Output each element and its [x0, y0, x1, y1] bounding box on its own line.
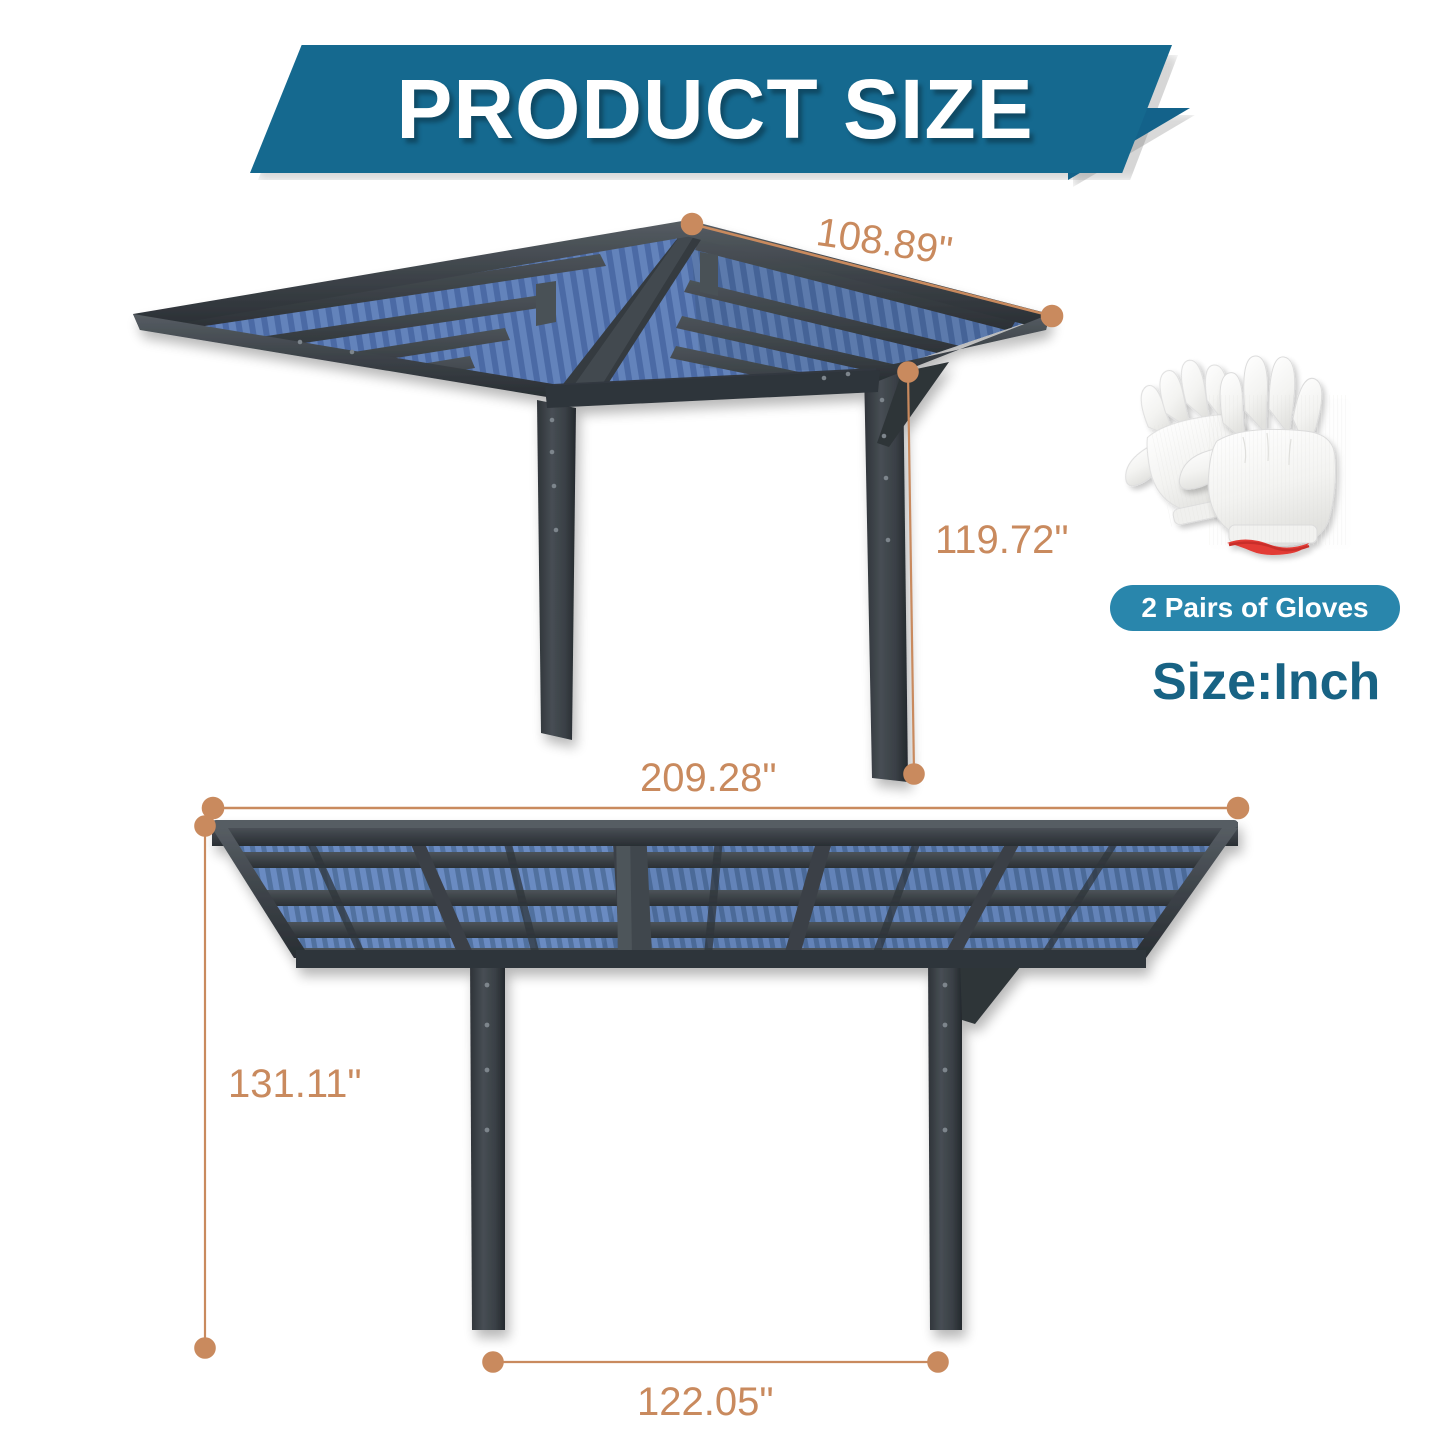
roof-fascia — [545, 370, 880, 408]
front-roof-right-edge — [1130, 828, 1238, 958]
dim-label-roof-depth: 108.89" — [813, 210, 955, 275]
dim-label-roof-width: 209.28" — [640, 756, 777, 801]
dim-label-post-span: 122.05" — [637, 1380, 774, 1425]
screw-group — [298, 340, 891, 543]
roof-edge-front-center — [553, 368, 876, 398]
front-roof-top-rail — [212, 822, 1238, 846]
page-title: PRODUCT SIZE — [250, 45, 1172, 173]
gloves-badge-label: 2 Pairs of Gloves — [1141, 592, 1368, 624]
front-post-left — [470, 955, 505, 1330]
post-left — [537, 400, 576, 740]
unit-note-label: Size:Inch — [1152, 652, 1380, 712]
front-screw-group — [485, 983, 948, 1133]
front-post-brace — [960, 952, 1032, 1024]
work-gloves-icon — [1105, 345, 1405, 570]
dim-label-overall-height: 131.11" — [228, 1062, 362, 1107]
roof-edge-front-right — [876, 314, 1050, 382]
roof-edge-back-left — [133, 220, 692, 330]
dim-label-post-height: 119.72" — [935, 518, 1069, 563]
front-roof-left-edge — [212, 828, 310, 958]
product-size-banner: PRODUCT SIZE — [250, 45, 1260, 195]
carport-front-view — [208, 820, 1238, 1330]
roof-edge-front-left — [133, 314, 553, 398]
front-roof-bottom-fascia — [296, 950, 1146, 968]
post-right — [864, 362, 908, 782]
product-size-infographic: PRODUCT SIZE — [0, 0, 1445, 1445]
dimension-lines-top-view — [682, 214, 1062, 784]
carport-perspective-view — [133, 220, 1050, 782]
front-post-right — [928, 955, 962, 1330]
post-brace-right — [877, 362, 949, 447]
gloves-badge: 2 Pairs of Gloves — [1110, 585, 1400, 631]
top-view-illustration — [0, 0, 1445, 1445]
